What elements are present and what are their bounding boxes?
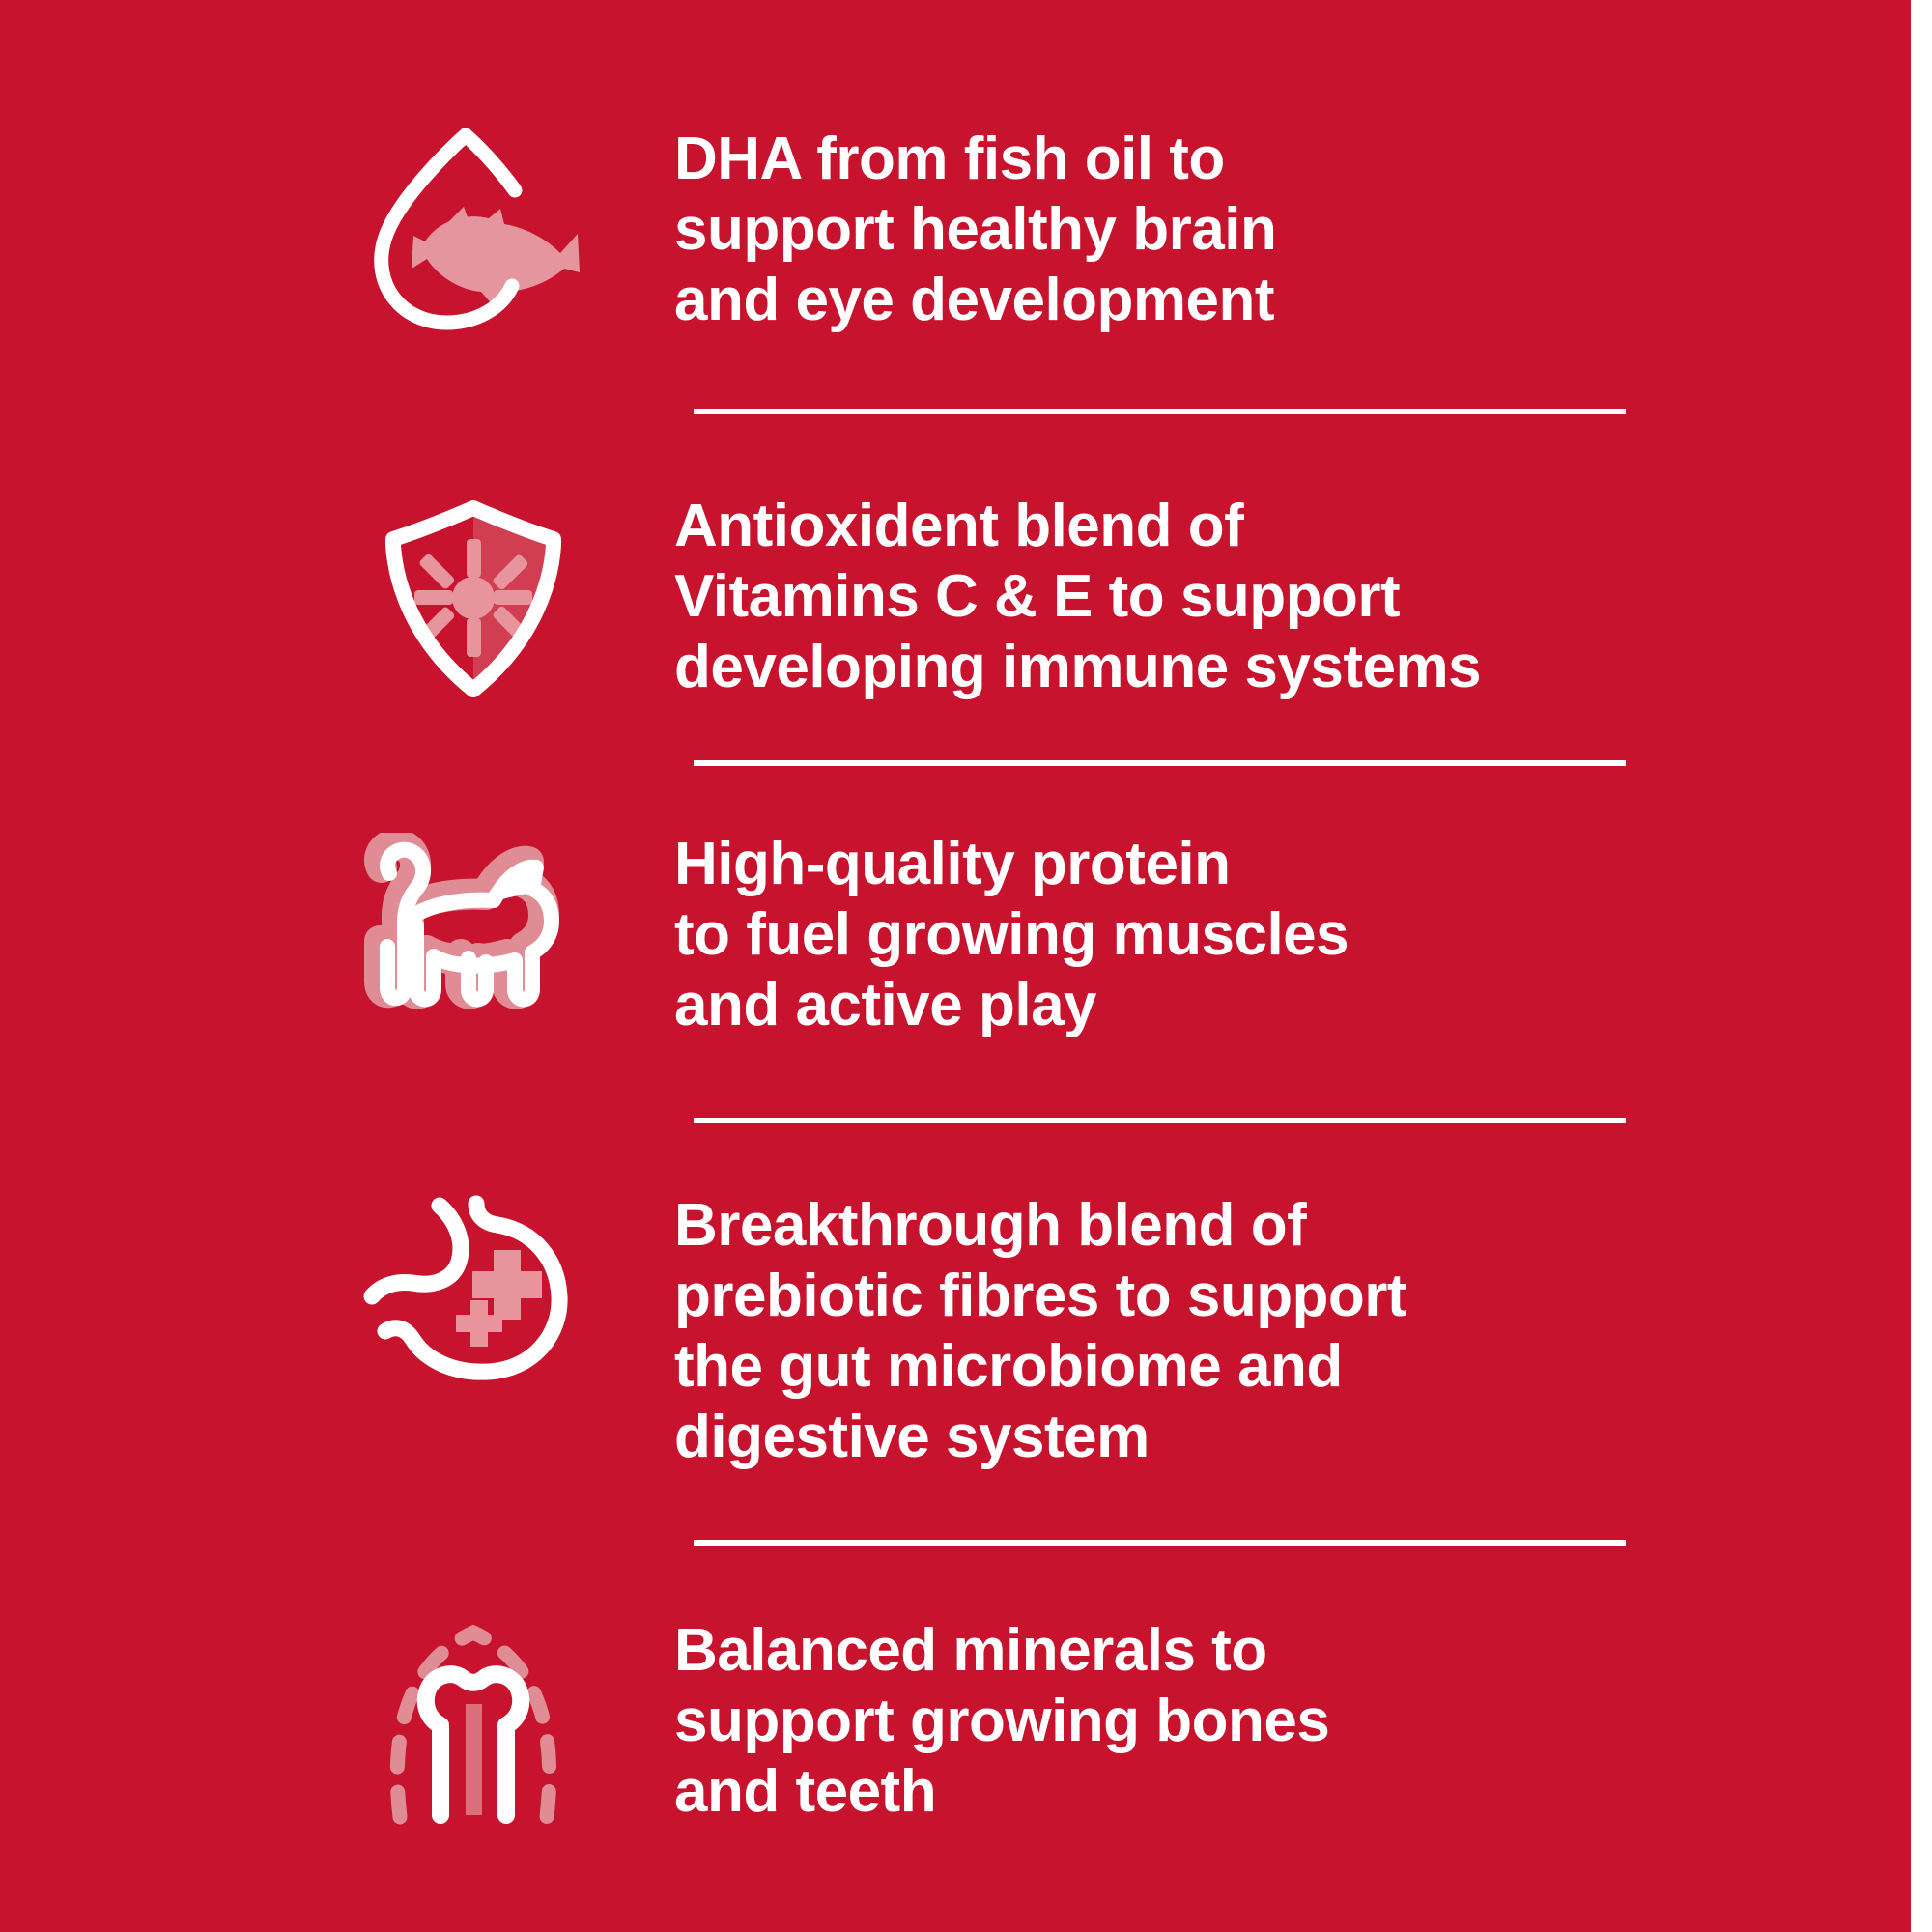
benefit-text-cell: High-quality protein to fuel growing mus… [628, 829, 1700, 1040]
benefits-panel: DHA from fish oil to support healthy bra… [0, 0, 1911, 1932]
fish-oil-droplet-icon [319, 124, 628, 330]
benefit-text: Balanced minerals to support growing bon… [674, 1615, 1700, 1827]
benefit-row: Antioxident blend of Vitamins C & E to s… [319, 491, 1700, 702]
benefit-text: Antioxident blend of Vitamins C & E to s… [674, 491, 1700, 702]
benefit-text: Breakthrough blend of prebiotic fibres t… [674, 1190, 1700, 1473]
benefit-text-cell: DHA from fish oil to support healthy bra… [628, 124, 1700, 335]
benefit-text: DHA from fish oil to support healthy bra… [674, 124, 1700, 335]
benefit-text-cell: Antioxident blend of Vitamins C & E to s… [628, 491, 1700, 702]
benefit-divider [694, 1118, 1626, 1123]
bone-icon [319, 1615, 628, 1827]
benefit-text-cell: Balanced minerals to support growing bon… [628, 1615, 1700, 1827]
benefit-row: Balanced minerals to support growing bon… [319, 1615, 1700, 1827]
shield-burst-icon [319, 491, 628, 702]
benefit-row: DHA from fish oil to support healthy bra… [319, 124, 1700, 335]
benefit-divider [694, 409, 1626, 414]
stomach-plus-icon [319, 1190, 628, 1387]
benefits-list: DHA from fish oil to support healthy bra… [0, 0, 1911, 1932]
benefit-text-cell: Breakthrough blend of prebiotic fibres t… [628, 1190, 1700, 1473]
benefit-divider [694, 1540, 1626, 1546]
benefit-row: High-quality protein to fuel growing mus… [319, 829, 1700, 1040]
cat-icon [319, 829, 628, 1026]
benefit-row: Breakthrough blend of prebiotic fibres t… [319, 1190, 1700, 1473]
benefit-divider [694, 760, 1626, 766]
benefit-text: High-quality protein to fuel growing mus… [674, 829, 1700, 1040]
